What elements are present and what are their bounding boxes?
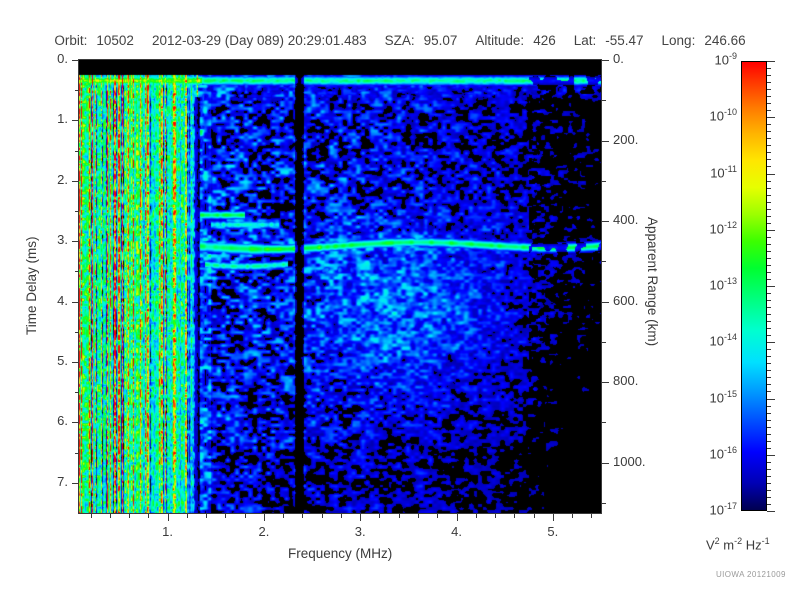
colorbar-tick-minor	[767, 145, 771, 146]
y-tick-major	[72, 483, 79, 484]
y2-axis-title: Apparent Range (km)	[645, 217, 660, 346]
colorbar-tick-minor	[767, 349, 771, 350]
ionogram-heatmap	[79, 60, 601, 513]
ionogram-page: Orbit:105022012-03-29 (Day 089) 20:29:01…	[0, 0, 800, 600]
observation-datetime: 2012-03-29 (Day 089) 20:29:01.483	[152, 33, 367, 48]
y2-tick-label: 1000.	[613, 454, 646, 469]
colorbar-tick-minor	[767, 131, 771, 132]
x-tick-minor	[91, 514, 92, 518]
y2-tick-label: 800.	[613, 373, 638, 388]
colorbar-tick-label: 10-10	[687, 107, 737, 123]
x-tick-major	[553, 514, 554, 521]
colorbar-tick-minor	[767, 448, 771, 449]
x-tick-minor	[495, 514, 496, 518]
colorbar-tick-major	[767, 342, 775, 343]
colorbar-tick-minor	[767, 152, 771, 153]
colorbar-tick-minor	[767, 103, 771, 104]
y2-tick-major	[602, 60, 609, 61]
colorbar-tick-major	[767, 61, 775, 62]
x-tick-minor	[110, 514, 111, 518]
colorbar-tick-minor	[767, 202, 771, 203]
y-tick-major	[72, 60, 79, 61]
x-tick-label: 2.	[250, 524, 278, 539]
sza-value: 95.07	[424, 33, 458, 48]
header-metadata: Orbit:105022012-03-29 (Day 089) 20:29:01…	[0, 30, 800, 50]
colorbar-tick-minor	[767, 272, 771, 273]
x-tick-minor	[302, 514, 303, 518]
colorbar-tick-major	[767, 286, 775, 287]
colorbar-tick-minor	[767, 391, 771, 392]
colorbar-gradient	[741, 61, 767, 511]
colorbar-tick-minor	[767, 420, 771, 421]
x-tick-minor	[437, 514, 438, 518]
colorbar-tick-minor	[767, 406, 771, 407]
axis-bottom-spine	[78, 513, 602, 514]
x-tick-label: 5.	[539, 524, 567, 539]
colorbar-unit-label: V2 m-2 Hz-1	[706, 536, 770, 552]
x-tick-minor	[283, 514, 284, 518]
x-tick-major	[168, 514, 169, 521]
x-tick-minor	[148, 514, 149, 518]
y2-tick-minor	[602, 261, 606, 262]
y2-tick-label: 200.	[613, 132, 638, 147]
altitude-label: Altitude:	[475, 33, 524, 48]
colorbar-tick-minor	[767, 82, 771, 83]
x-tick-minor	[591, 514, 592, 518]
colorbar-tick-minor	[767, 209, 771, 210]
axis-top-spine	[78, 59, 602, 60]
colorbar-tick-minor	[767, 223, 771, 224]
colorbar-tick-label: 10-9	[687, 51, 737, 67]
colorbar-tick-minor	[767, 110, 771, 111]
colorbar-tick-minor	[767, 427, 771, 428]
sza-label: SZA:	[385, 33, 415, 48]
y-tick-minor	[75, 332, 79, 333]
colorbar-tick-minor	[767, 166, 771, 167]
altitude-value: 426	[533, 33, 556, 48]
colorbar-tick-minor	[767, 490, 771, 491]
colorbar-tick-minor	[767, 195, 771, 196]
long-label: Long:	[662, 33, 696, 48]
colorbar-tick-major	[767, 511, 775, 512]
colorbar-tick-minor	[767, 188, 771, 189]
x-tick-minor	[379, 514, 380, 518]
colorbar-tick-minor	[767, 181, 771, 182]
x-tick-major	[457, 514, 458, 521]
y-tick-minor	[75, 151, 79, 152]
y-tick-label: 2.	[0, 172, 68, 187]
colorbar-tick-minor	[767, 370, 771, 371]
x-tick-minor	[418, 514, 419, 518]
orbit-value: 10502	[96, 33, 134, 48]
y-axis-title: Time Delay (ms)	[24, 236, 39, 335]
lat-label: Lat:	[574, 33, 597, 48]
colorbar-tick-label: 10-11	[687, 164, 737, 180]
colorbar-tick-label: 10-15	[687, 389, 737, 405]
colorbar-tick-minor	[767, 413, 771, 414]
y2-tick-label: 400.	[613, 212, 638, 227]
colorbar-tick-minor	[767, 265, 771, 266]
x-axis-title: Frequency (MHz)	[288, 546, 392, 561]
colorbar-tick-major	[767, 455, 775, 456]
y-tick-major	[72, 422, 79, 423]
y-tick-minor	[75, 271, 79, 272]
colorbar-tick-minor	[767, 237, 771, 238]
colorbar-tick-minor	[767, 68, 771, 69]
colorbar-tick-minor	[767, 504, 771, 505]
colorbar-tick-label: 10-12	[687, 220, 737, 236]
colorbar-tick-minor	[767, 462, 771, 463]
colorbar-tick-minor	[767, 384, 771, 385]
colorbar-tick-minor	[767, 300, 771, 301]
y2-tick-major	[602, 221, 609, 222]
x-tick-minor	[187, 514, 188, 518]
y2-tick-label: 0.	[613, 51, 624, 66]
x-tick-minor	[225, 514, 226, 518]
y2-tick-minor	[602, 503, 606, 504]
y-tick-minor	[75, 90, 79, 91]
y-tick-major	[72, 120, 79, 121]
colorbar-tick-minor	[767, 469, 771, 470]
lat-value: -55.47	[605, 33, 643, 48]
y2-tick-major	[602, 463, 609, 464]
colorbar-tick-label: 10-17	[687, 501, 737, 517]
y-tick-major	[72, 241, 79, 242]
x-tick-minor	[245, 514, 246, 518]
colorbar-tick-label: 10-16	[687, 445, 737, 461]
colorbar-tick-minor	[767, 216, 771, 217]
x-tick-label: 4.	[443, 524, 471, 539]
colorbar-tick-minor	[767, 251, 771, 252]
x-tick-minor	[514, 514, 515, 518]
colorbar-tick-minor	[767, 363, 771, 364]
x-tick-minor	[341, 514, 342, 518]
y-tick-minor	[75, 392, 79, 393]
colorbar-tick-minor	[767, 293, 771, 294]
y2-tick-minor	[602, 422, 606, 423]
y-tick-minor	[75, 453, 79, 454]
credit-footer: UIOWA 20121009	[716, 570, 786, 579]
x-tick-major	[264, 514, 265, 521]
x-tick-minor	[206, 514, 207, 518]
colorbar-tick-minor	[767, 244, 771, 245]
colorbar-tick-minor	[767, 138, 771, 139]
colorbar-tick-minor	[767, 441, 771, 442]
x-tick-label: 1.	[154, 524, 182, 539]
y2-tick-minor	[602, 342, 606, 343]
colorbar-tick-minor	[767, 258, 771, 259]
x-tick-label: 3.	[346, 524, 374, 539]
y2-tick-major	[602, 382, 609, 383]
x-tick-minor	[322, 514, 323, 518]
x-tick-minor	[399, 514, 400, 518]
y-tick-label: 0.	[0, 51, 68, 66]
y-tick-label: 7.	[0, 474, 68, 489]
colorbar-tick-minor	[767, 335, 771, 336]
colorbar-tick-minor	[767, 497, 771, 498]
y-tick-major	[72, 302, 79, 303]
colorbar-tick-minor	[767, 75, 771, 76]
colorbar-tick-minor	[767, 96, 771, 97]
y2-tick-minor	[602, 100, 606, 101]
y-tick-major	[72, 362, 79, 363]
colorbar-tick-minor	[767, 356, 771, 357]
y2-tick-label: 600.	[613, 293, 638, 308]
x-tick-minor	[129, 514, 130, 518]
colorbar-tick-minor	[767, 483, 771, 484]
x-tick-major	[360, 514, 361, 521]
colorbar-tick-minor	[767, 279, 771, 280]
y2-tick-major	[602, 302, 609, 303]
colorbar-tick-minor	[767, 124, 771, 125]
y-tick-major	[72, 181, 79, 182]
ionogram-plot-area	[79, 60, 601, 513]
x-tick-minor	[572, 514, 573, 518]
colorbar-tick-minor	[767, 434, 771, 435]
colorbar-tick-major	[767, 174, 775, 175]
colorbar-tick-minor	[767, 314, 771, 315]
y-tick-label: 1.	[0, 111, 68, 126]
x-tick-minor	[476, 514, 477, 518]
y2-tick-major	[602, 141, 609, 142]
y-tick-minor	[75, 211, 79, 212]
colorbar-tick-major	[767, 117, 775, 118]
colorbar-tick-minor	[767, 307, 771, 308]
colorbar-tick-minor	[767, 476, 771, 477]
y2-tick-minor	[602, 181, 606, 182]
y-tick-label: 6.	[0, 413, 68, 428]
colorbar-tick-minor	[767, 159, 771, 160]
colorbar-tick-minor	[767, 321, 771, 322]
colorbar-tick-minor	[767, 89, 771, 90]
colorbar-tick-label: 10-13	[687, 276, 737, 292]
axis-left-spine	[78, 59, 79, 514]
x-tick-minor	[534, 514, 535, 518]
colorbar-tick-minor	[767, 328, 771, 329]
colorbar-tick-minor	[767, 377, 771, 378]
orbit-label: Orbit:	[54, 33, 87, 48]
colorbar-tick-major	[767, 399, 775, 400]
y-tick-label: 5.	[0, 353, 68, 368]
colorbar-tick-major	[767, 230, 775, 231]
long-value: 246.66	[704, 33, 745, 48]
colorbar-tick-label: 10-14	[687, 332, 737, 348]
axis-right-spine	[601, 59, 602, 514]
